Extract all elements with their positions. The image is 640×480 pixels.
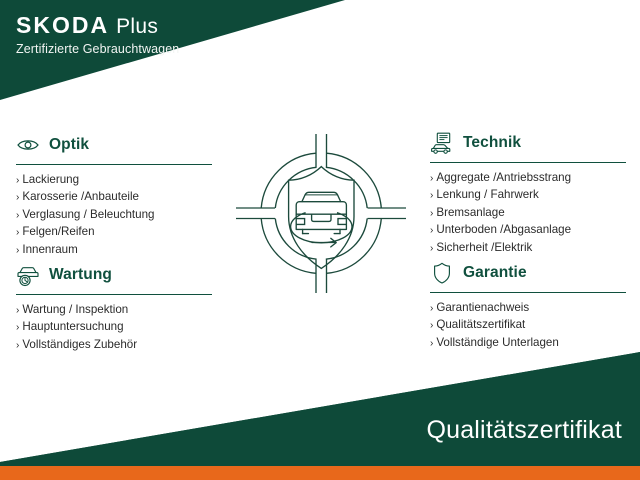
section-technik-list: ›Aggregate /Antriebsstrang ›Lenkung / Fa… [430, 170, 626, 257]
list-item-label: Aggregate /Antriebsstrang [436, 170, 571, 186]
brand-header: SKODA Plus Zertifizierte Gebrauchtwagen [16, 14, 179, 57]
section-wartung-title: Wartung [49, 267, 112, 283]
list-item-label: Hauptuntersuchung [22, 319, 123, 335]
section-optik: Optik ›Lackierung ›Karosserie /Anbauteil… [16, 132, 212, 259]
outer-ring [261, 153, 381, 273]
list-item: ›Lackierung [16, 172, 212, 189]
brand-tagline: Zertifizierte Gebrauchtwagen [16, 42, 179, 57]
chevron-right-icon: › [16, 190, 19, 206]
list-item: ›Bremsanlage [430, 205, 626, 222]
chevron-right-icon: › [430, 241, 433, 257]
section-garantie: Garantie ›Garantienachweis ›Qualitätszer… [430, 260, 626, 352]
section-wartung-header: Wartung [16, 262, 212, 288]
brand-logo: SKODA Plus [16, 14, 179, 37]
list-item: ›Garantienachweis [430, 300, 626, 317]
list-item-label: Vollständiges Zubehör [22, 337, 137, 353]
chevron-right-icon: › [16, 243, 19, 259]
eye-icon [16, 133, 40, 157]
section-optik-header: Optik [16, 132, 212, 158]
chevron-right-icon: › [16, 173, 19, 189]
list-item-label: Sicherheit /Elektrik [436, 240, 532, 256]
section-technik: Technik ›Aggregate /Antriebsstrang ›Lenk… [430, 130, 626, 257]
list-item-label: Lenkung / Fahrwerk [436, 187, 538, 203]
brand-suffix: Plus [116, 16, 158, 37]
list-item: ›Lenkung / Fahrwerk [430, 187, 626, 204]
list-item-label: Innenraum [22, 242, 77, 258]
car-service-icon [16, 263, 40, 287]
list-item: ›Vollständiges Zubehör [16, 337, 212, 354]
list-item: ›Hauptuntersuchung [16, 319, 212, 336]
section-garantie-list: ›Garantienachweis ›Qualitätszertifikat ›… [430, 300, 626, 352]
section-wartung-divider [16, 294, 212, 295]
section-garantie-title: Garantie [463, 265, 527, 281]
footer-title: Qualitätszertifikat [426, 418, 622, 443]
chevron-right-icon: › [430, 188, 433, 204]
chevron-right-icon: › [430, 206, 433, 222]
chevron-right-icon: › [430, 301, 433, 317]
car-document-icon [430, 131, 454, 155]
section-wartung: Wartung ›Wartung / Inspektion ›Hauptunte… [16, 262, 212, 354]
section-optik-title: Optik [49, 137, 89, 153]
section-technik-title: Technik [463, 135, 521, 151]
section-technik-header: Technik [430, 130, 626, 156]
section-technik-divider [430, 162, 626, 163]
list-item-label: Garantienachweis [436, 300, 529, 316]
chevron-right-icon: › [430, 171, 433, 187]
chevron-right-icon: › [430, 336, 433, 352]
orange-accent-strip [0, 466, 640, 480]
chevron-right-icon: › [16, 208, 19, 224]
list-item: ›Sicherheit /Elektrik [430, 240, 626, 257]
section-optik-list: ›Lackierung ›Karosserie /Anbauteile ›Ver… [16, 172, 212, 259]
list-item-label: Karosserie /Anbauteile [22, 189, 139, 205]
list-item-label: Verglasung / Beleuchtung [22, 207, 154, 223]
list-item: ›Innenraum [16, 242, 212, 259]
shield-icon [430, 261, 454, 285]
chevron-right-icon: › [16, 320, 19, 336]
list-item-label: Unterboden /Abgasanlage [436, 222, 571, 238]
chevron-right-icon: › [16, 225, 19, 241]
list-item-label: Qualitätszertifikat [436, 317, 525, 333]
list-item: ›Aggregate /Antriebsstrang [430, 170, 626, 187]
list-item-label: Vollständige Unterlagen [436, 335, 558, 351]
certificate-page: SKODA Plus Zertifizierte Gebrauchtwagen … [0, 0, 640, 480]
list-item: ›Qualitätszertifikat [430, 317, 626, 334]
list-item: ›Felgen/Reifen [16, 224, 212, 241]
list-item-label: Wartung / Inspektion [22, 302, 128, 318]
section-garantie-divider [430, 292, 626, 293]
list-item: ›Karosserie /Anbauteile [16, 189, 212, 206]
section-garantie-header: Garantie [430, 260, 626, 286]
list-item: ›Verglasung / Beleuchtung [16, 207, 212, 224]
cross-spokes [236, 134, 406, 293]
list-item-label: Lackierung [22, 172, 79, 188]
chevron-right-icon: › [16, 338, 19, 354]
chevron-right-icon: › [16, 303, 19, 319]
chevron-right-icon: › [430, 318, 433, 334]
section-wartung-list: ›Wartung / Inspektion ›Hauptuntersuchung… [16, 302, 212, 354]
list-item: ›Unterboden /Abgasanlage [430, 222, 626, 239]
list-item-label: Felgen/Reifen [22, 224, 94, 240]
car-shield-certification-emblem [236, 128, 406, 308]
list-item: ›Vollständige Unterlagen [430, 335, 626, 352]
list-item: ›Wartung / Inspektion [16, 302, 212, 319]
chevron-right-icon: › [430, 223, 433, 239]
section-optik-divider [16, 164, 212, 165]
list-item-label: Bremsanlage [436, 205, 504, 221]
brand-name: SKODA [16, 14, 109, 37]
